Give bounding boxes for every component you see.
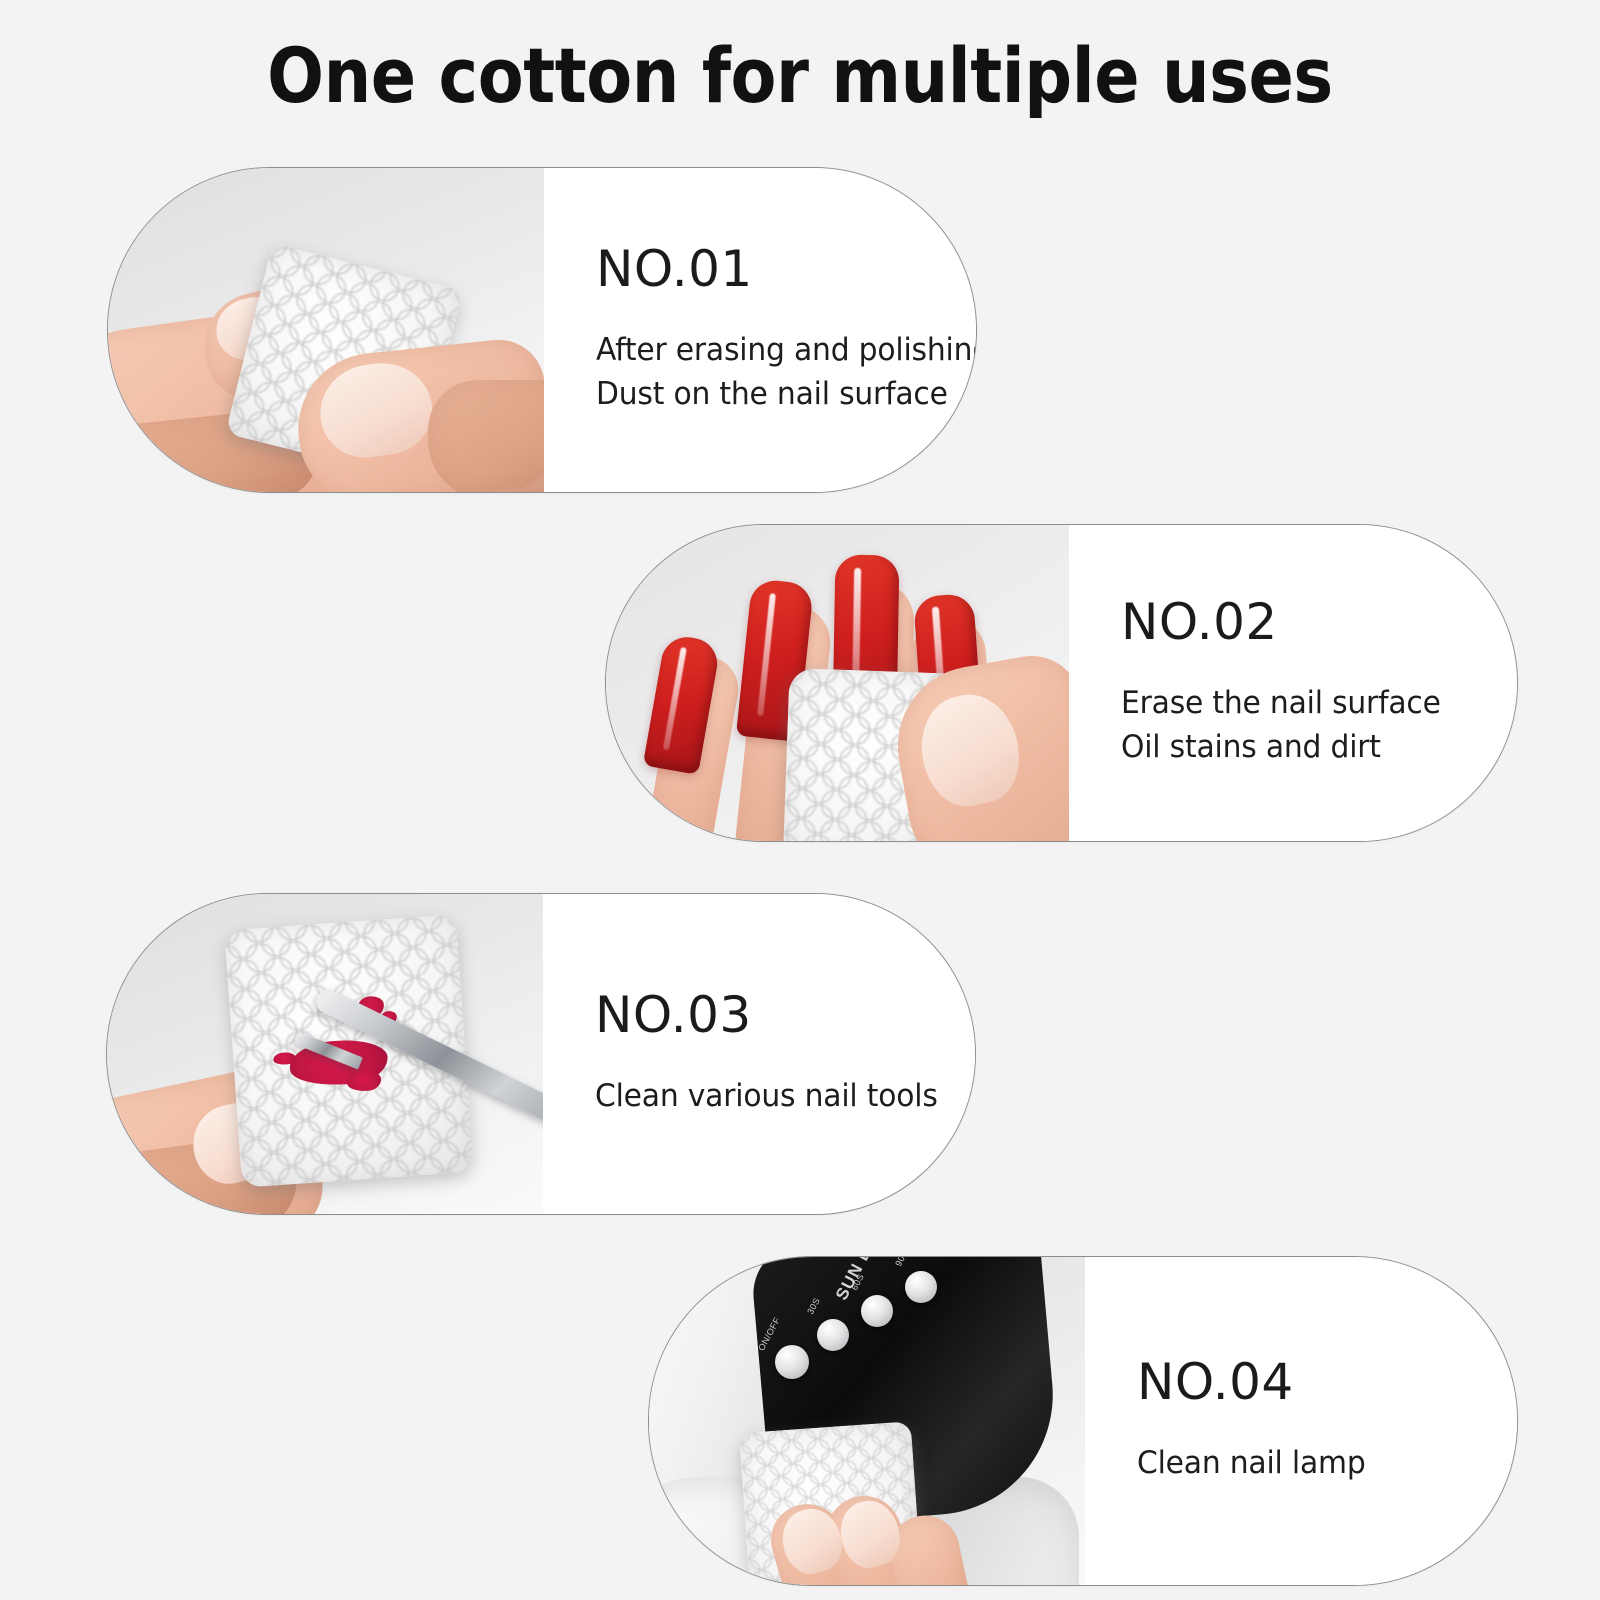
card-1-line-2: Dust on the nail surface [596, 372, 977, 416]
card-4-number: NO.04 [1137, 1357, 1517, 1407]
card-3-number: NO.03 [595, 990, 975, 1040]
nail-lamp-button-30s[interactable] [817, 1319, 849, 1351]
feature-card-3: NO.03 Clean various nail tools [106, 893, 976, 1215]
card-2-line-2: Oil stains and dirt [1121, 725, 1501, 769]
nail-lamp-button-60s[interactable] [861, 1295, 893, 1327]
card-4-line-1: Clean nail lamp [1137, 1441, 1502, 1485]
polish-stain-fleck-4 [346, 1070, 381, 1092]
feature-card-4: SUN LED ON/OFF 30S 60S 90S NO.04 Clean n… [648, 1256, 1518, 1586]
nail-lamp-button-90s[interactable] [905, 1271, 937, 1303]
card-3-line-1: Clean various nail tools [595, 1074, 960, 1118]
card-1-text-panel: NO.01 After erasing and polishing Dust o… [544, 168, 977, 492]
nail-lamp-button-onoff[interactable] [775, 1345, 809, 1379]
card-1-line-1: After erasing and polishing [596, 328, 977, 372]
card-2-line-1: Erase the nail surface [1121, 681, 1501, 725]
card-1-number: NO.01 [596, 244, 977, 294]
card-2-text-panel: NO.02 Erase the nail surface Oil stains … [1069, 525, 1517, 841]
card-4-text-panel: NO.04 Clean nail lamp [1085, 1257, 1517, 1585]
card-2-number: NO.02 [1121, 597, 1517, 647]
card-1-photo [108, 168, 544, 492]
knuckle-shadow [428, 380, 544, 492]
card-3-photo [107, 894, 543, 1214]
feature-card-2: NO.02 Erase the nail surface Oil stains … [605, 524, 1518, 842]
card-3-text-panel: NO.03 Clean various nail tools [543, 894, 975, 1214]
infographic-page: One cotton for multiple uses NO.01 After… [0, 0, 1600, 1600]
card-2-photo [606, 525, 1069, 841]
feature-card-1: NO.01 After erasing and polishing Dust o… [107, 167, 977, 493]
page-title: One cotton for multiple uses [96, 38, 1504, 114]
card-4-photo: SUN LED ON/OFF 30S 60S 90S [649, 1257, 1085, 1585]
